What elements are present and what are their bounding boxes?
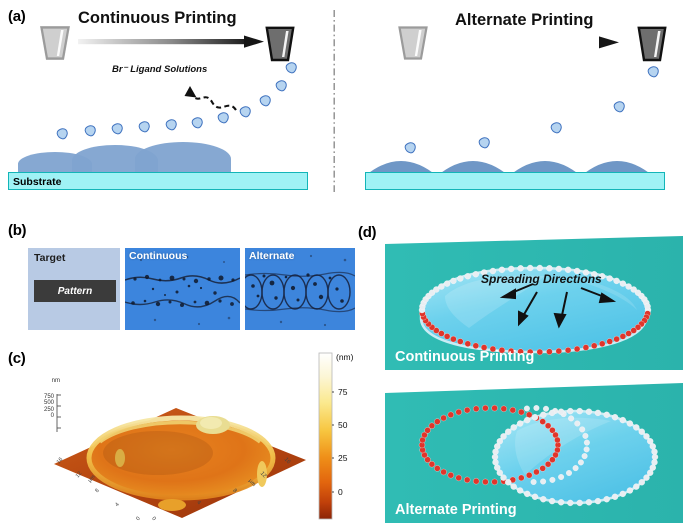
afm-colorbar-tick-25: 25 (338, 453, 347, 463)
panel-b-letter: (b) (8, 222, 26, 239)
panel-d-pane-continuous: Spreading Directions Continuous Printing (385, 236, 683, 370)
afm-colorbar-tick-50: 50 (338, 420, 347, 430)
nozzle-dark-left (265, 26, 295, 62)
afm-colorbar-tick-75: 75 (338, 387, 347, 397)
panel-b-caption-target: Target (34, 252, 65, 264)
panel-a-letter: (a) (8, 8, 25, 25)
ligand-solutions-label: Br⁻ Ligand Solutions (112, 64, 207, 75)
panel-d-caption-continuous: Continuous Printing (395, 349, 534, 365)
substrate-label-left: Substrate (13, 177, 61, 188)
spreading-directions-label: Spreading Directions (481, 272, 602, 286)
panel-a-divider (333, 10, 336, 192)
afm-z-axis: nm (34, 378, 60, 384)
panel-b-image-alternate: Alternate (245, 248, 355, 330)
afm-colorbar-tick-0: 0 (338, 487, 343, 497)
panel-d-caption-alternate: Alternate Printing (395, 502, 517, 518)
ligand-pointer-arrow (148, 76, 240, 116)
panel-b-image-continuous: Continuous (125, 248, 240, 330)
substrate-bar-right (365, 172, 665, 190)
afm-z-unit: nm (34, 378, 60, 384)
panel-c-letter: (c) (8, 350, 25, 367)
afm-colorbar-unit: (nm) (336, 352, 353, 362)
substrate-bar-left: Substrate (8, 172, 308, 190)
nozzle-dark-right (637, 26, 667, 62)
continuous-arrow (78, 34, 268, 50)
afm-3d-surface (48, 398, 313, 523)
panel-b-caption-continuous: Continuous (129, 250, 187, 262)
afm-colorbar (318, 352, 334, 527)
panel-a-right-title: Alternate Printing (455, 11, 593, 30)
nozzle-light-right (398, 26, 428, 60)
panel-d-pane-alternate: Alternate Printing (385, 383, 683, 523)
pattern-label: Pattern (58, 286, 92, 297)
pattern-bar: Pattern (34, 280, 116, 302)
panel-b-caption-alternate: Alternate (249, 250, 295, 262)
nozzle-light-left (40, 26, 70, 60)
panel-a-left-title: Continuous Printing (78, 9, 237, 28)
panel-d-letter: (d) (358, 224, 376, 241)
panel-b-image-target: Target Pattern (28, 248, 120, 330)
alternate-arrow (435, 34, 625, 50)
